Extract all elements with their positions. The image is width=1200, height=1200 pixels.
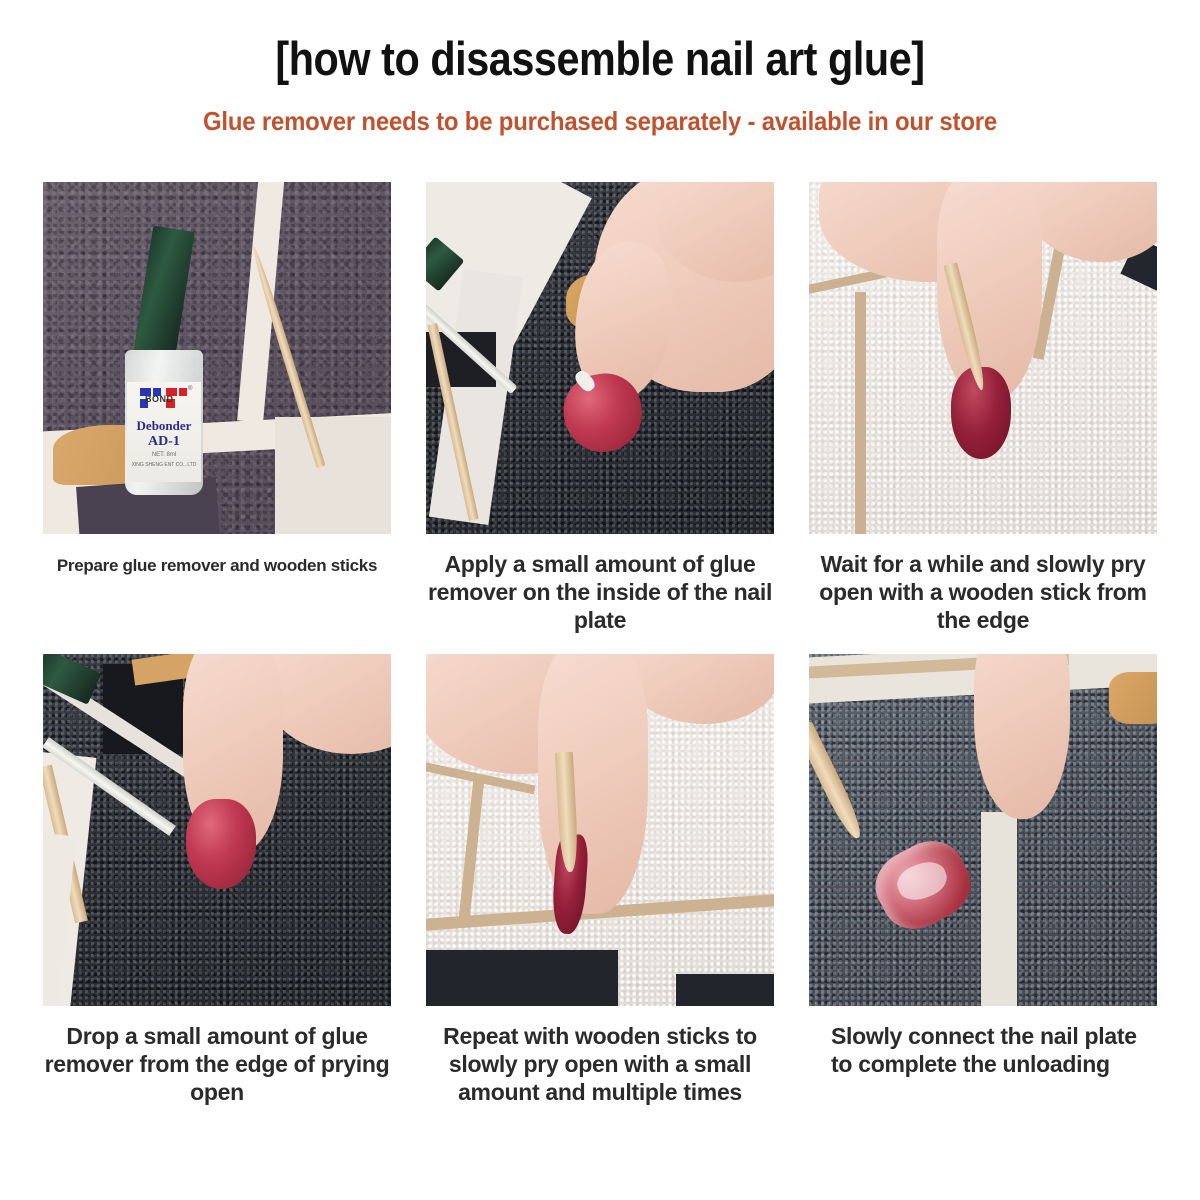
step-caption-5: Repeat with wooden sticks to slowly pry … <box>426 1006 774 1106</box>
nail-with-polish <box>186 799 256 889</box>
page-subtitle: Glue remover needs to be purchased separ… <box>48 106 1152 137</box>
brand-name: BOND <box>145 394 174 404</box>
product-code: AD-1 <box>127 434 201 450</box>
registered-mark-icon: ® <box>188 386 192 392</box>
product-name: Debonder <box>127 418 201 434</box>
steps-row-bottom: Drop a small amount of glue remover from… <box>0 654 1200 1106</box>
white-stripe-vertical <box>981 812 1017 1006</box>
step-card-1: ® BOND Debonder AD-1 NET: 8ml XING SHENG… <box>43 182 391 634</box>
product-company: XING SHENG ENT CO., LTD <box>127 462 201 468</box>
steps-row-top: ® BOND Debonder AD-1 NET: 8ml XING SHENG… <box>0 182 1200 634</box>
dark-leather-patch-bottom-right <box>676 974 774 1006</box>
step-caption-1: Prepare glue remover and wooden sticks <box>43 534 391 577</box>
cloth-patch-right <box>275 417 391 534</box>
step-card-5: Repeat with wooden sticks to slowly pry … <box>426 654 774 1106</box>
page-title: [how to disassemble nail art glue] <box>72 32 1128 86</box>
step-caption-4: Drop a small amount of glue remover from… <box>43 1006 391 1106</box>
step-card-4: Drop a small amount of glue remover from… <box>43 654 391 1106</box>
step-photo-5 <box>426 654 774 1006</box>
dark-leather-patch-bottom-left <box>426 950 618 1006</box>
infographic-header: [how to disassemble nail art glue] Glue … <box>0 0 1200 137</box>
step-photo-2 <box>426 182 774 534</box>
bottle-label: ® BOND Debonder AD-1 NET: 8ml XING SHENG… <box>127 382 201 482</box>
tan-stripe-vertical <box>855 292 866 534</box>
step-photo-3 <box>809 182 1157 534</box>
step-photo-4 <box>43 654 391 1006</box>
product-net-volume: NET: 8ml <box>127 452 201 458</box>
tan-patch-top-right <box>1109 672 1157 724</box>
step-caption-2: Apply a small amount of glue remover on … <box>426 534 774 634</box>
step-card-6: Slowly connect the nail plate to complet… <box>809 654 1157 1106</box>
steps-grid: ® BOND Debonder AD-1 NET: 8ml XING SHENG… <box>0 182 1200 1106</box>
step-photo-1: ® BOND Debonder AD-1 NET: 8ml XING SHENG… <box>43 182 391 534</box>
step-card-3: Wait for a while and slowly pry open wit… <box>809 182 1157 634</box>
step-card-2: Apply a small amount of glue remover on … <box>426 182 774 634</box>
step-caption-6: Slowly connect the nail plate to complet… <box>809 1006 1157 1078</box>
step-caption-3: Wait for a while and slowly pry open wit… <box>809 534 1157 634</box>
step-photo-6 <box>809 654 1157 1006</box>
